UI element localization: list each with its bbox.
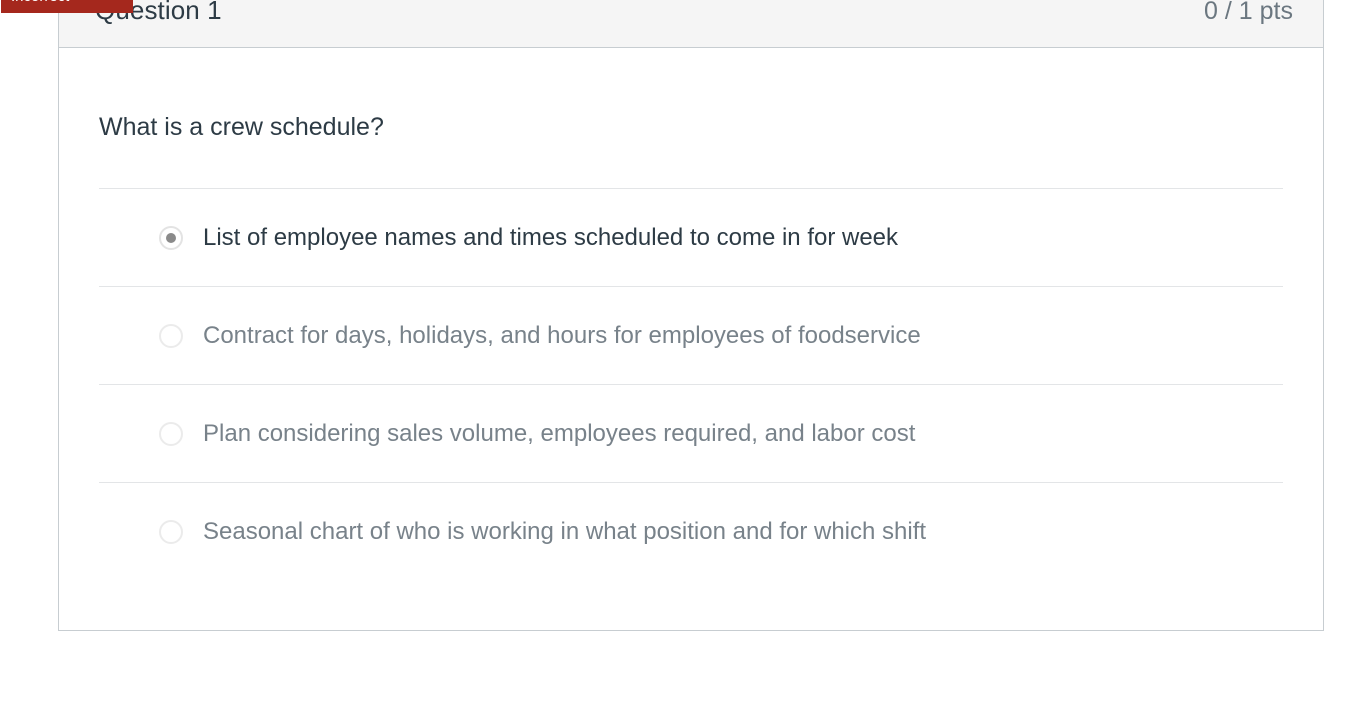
question-prompt-text: What is a crew schedule? [99,113,384,141]
radio-button-2[interactable] [159,324,183,348]
answer-option-4[interactable]: Seasonal chart of who is working in what… [99,482,1283,580]
answer-option-1[interactable]: List of employee names and times schedul… [99,188,1283,286]
answer-option-2[interactable]: Contract for days, holidays, and hours f… [99,286,1283,384]
question-header: Incorrect Question 1 0 / 1 pts [59,0,1323,48]
radio-dot-icon [166,233,176,243]
quiz-question-page: Incorrect Question 1 0 / 1 pts What is a… [0,0,1364,708]
answer-option-3-label: Plan considering sales volume, employees… [203,418,915,450]
answer-option-4-label: Seasonal chart of who is working in what… [203,516,926,548]
status-flag-label: Incorrect [11,0,69,5]
question-card: Incorrect Question 1 0 / 1 pts What is a… [58,0,1324,631]
incorrect-status-flag: Incorrect [1,0,133,13]
question-prompt: What is a crew schedule? [59,48,1323,144]
answer-option-1-label: List of employee names and times schedul… [203,222,898,254]
answer-options-list: List of employee names and times schedul… [99,188,1283,630]
question-points-badge: 0 / 1 pts [1204,0,1293,26]
radio-button-1[interactable] [159,226,183,250]
question-body: What is a crew schedule? List of employe… [59,48,1323,630]
answer-option-2-label: Contract for days, holidays, and hours f… [203,320,921,352]
answer-option-3[interactable]: Plan considering sales volume, employees… [99,384,1283,482]
radio-button-3[interactable] [159,422,183,446]
radio-button-4[interactable] [159,520,183,544]
